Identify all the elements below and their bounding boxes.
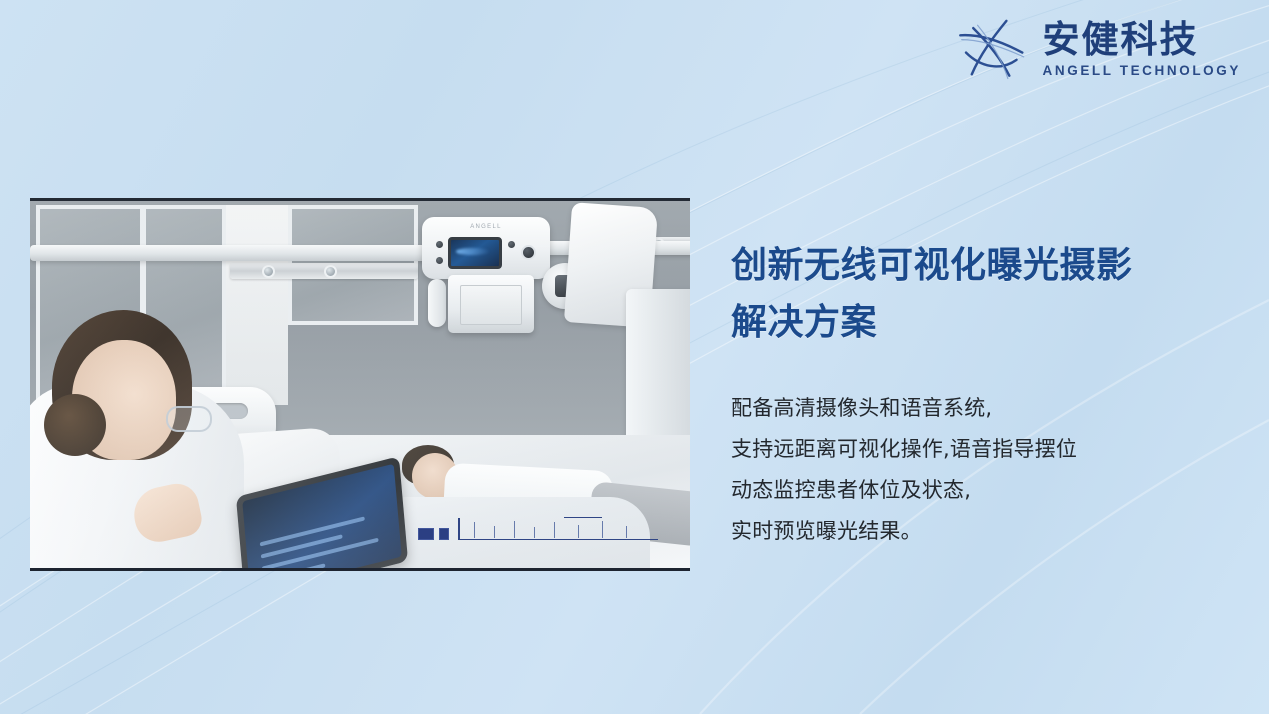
- description-line-1: 配备高清摄像头和语音系统,: [731, 388, 1231, 429]
- slide-root: 安健科技 ANGELL TECHNOLOGY ANGELL: [0, 0, 1269, 714]
- brand-logo: 安健科技 ANGELL TECHNOLOGY: [955, 18, 1241, 80]
- description-line-3: 动态监控患者体位及状态,: [731, 470, 1231, 511]
- hospital-ward-scene: ANGELL: [30, 201, 690, 568]
- page-title: 创新无线可视化曝光摄影 解决方案: [731, 238, 1231, 352]
- headline-line-1: 创新无线可视化曝光摄影: [731, 238, 1231, 295]
- photo-haze-overlay: [30, 201, 690, 568]
- brand-logo-text: 安健科技 ANGELL TECHNOLOGY: [1043, 21, 1241, 78]
- hero-photo: ANGELL: [30, 198, 690, 571]
- angell-logo-mark-icon: [955, 18, 1029, 80]
- headline-line-2: 解决方案: [731, 295, 1231, 352]
- content-column: 创新无线可视化曝光摄影 解决方案 配备高清摄像头和语音系统, 支持远距离可视化操…: [731, 238, 1231, 552]
- brand-name-en: ANGELL TECHNOLOGY: [1043, 64, 1241, 78]
- feature-description-list: 配备高清摄像头和语音系统, 支持远距离可视化操作,语音指导摆位 动态监控患者体位…: [731, 388, 1231, 552]
- brand-name-cn: 安健科技: [1043, 21, 1241, 58]
- description-line-4: 实时预览曝光结果。: [731, 511, 1231, 552]
- description-line-2: 支持远距离可视化操作,语音指导摆位: [731, 429, 1231, 470]
